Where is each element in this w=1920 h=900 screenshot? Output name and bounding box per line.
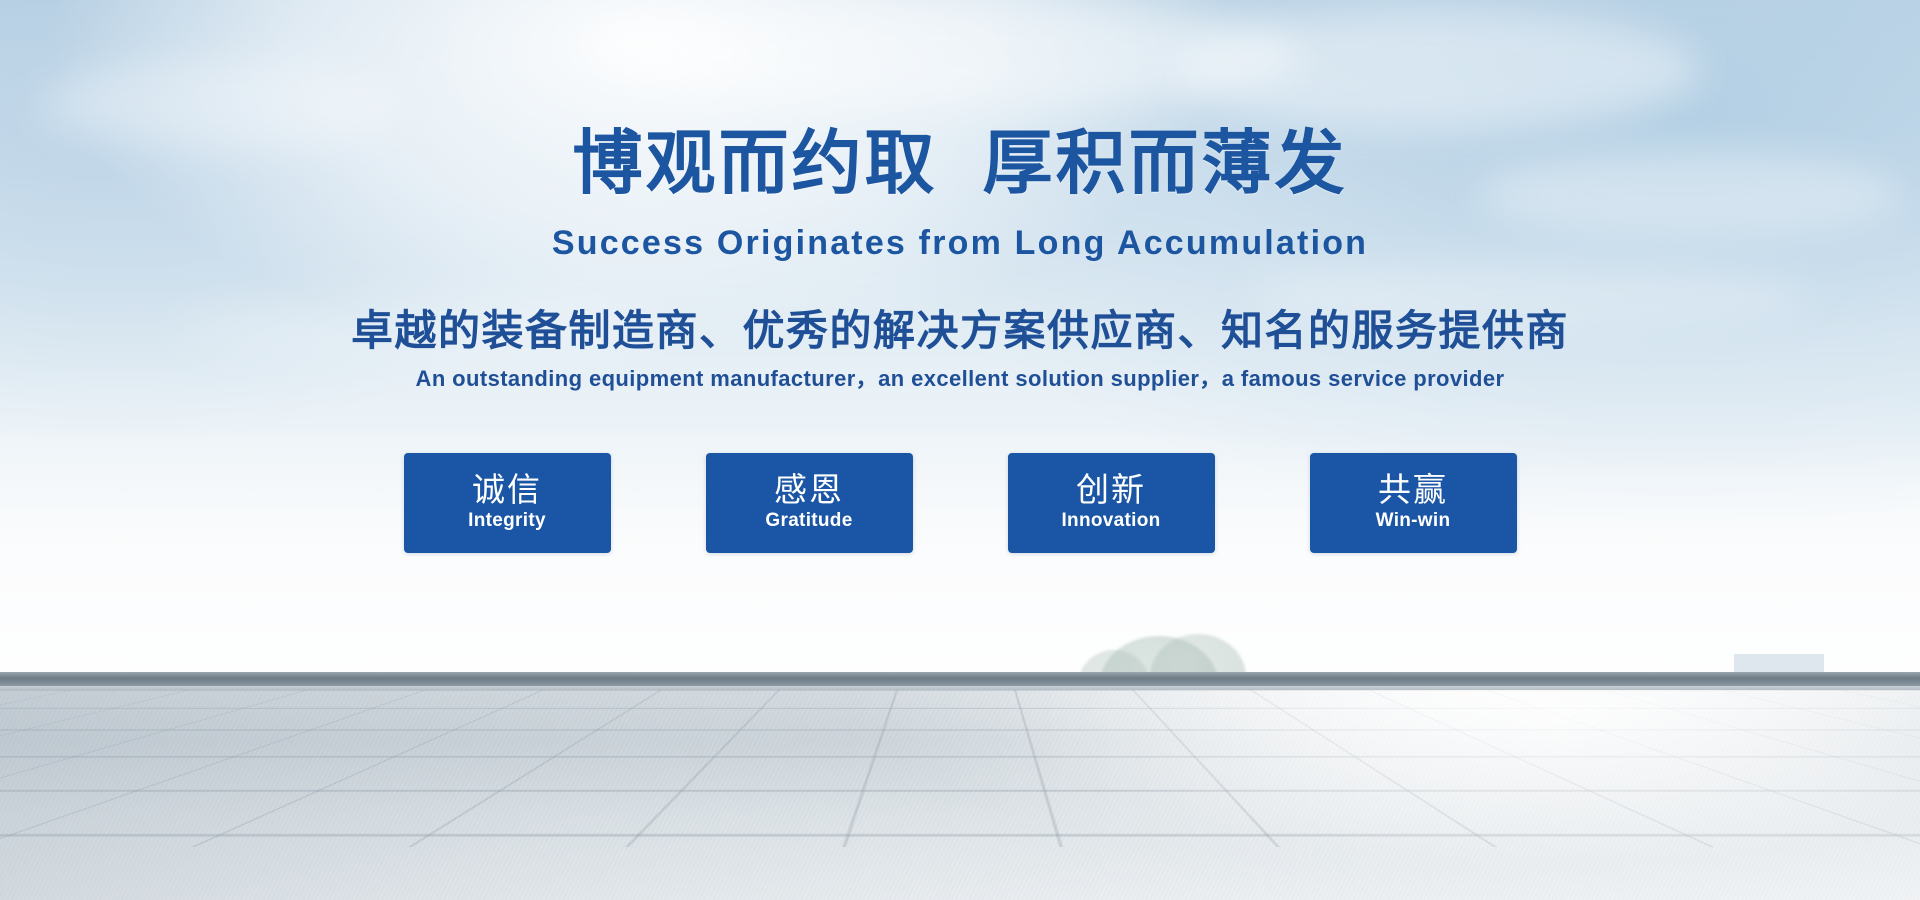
value-box-gratitude[interactable]: 感恩 Gratitude (706, 453, 913, 553)
value-box-winwin[interactable]: 共赢 Win-win (1310, 453, 1517, 553)
headline-english: Success Originates from Long Accumulatio… (0, 226, 1920, 260)
banner-content: 博观而约取 厚积而薄发 Success Originates from Long… (0, 0, 1920, 900)
value-box-label-en: Gratitude (765, 508, 852, 534)
headline-chinese: 博观而约取 厚积而薄发 (0, 128, 1920, 198)
core-values-row: 诚信 Integrity 感恩 Gratitude 创新 Innovation … (0, 453, 1920, 553)
value-box-label-zh: 创新 (1076, 472, 1146, 508)
value-box-label-zh: 诚信 (472, 472, 542, 508)
value-box-label-zh: 感恩 (774, 472, 844, 508)
hero-banner: 博观而约取 厚积而薄发 Success Originates from Long… (0, 0, 1920, 900)
value-box-label-zh: 共赢 (1378, 472, 1448, 508)
value-box-label-en: Innovation (1061, 508, 1160, 534)
value-box-label-en: Integrity (468, 508, 546, 534)
value-box-innovation[interactable]: 创新 Innovation (1008, 453, 1215, 553)
subheadline-chinese: 卓越的装备制造商、优秀的解决方案供应商、知名的服务提供商 (0, 310, 1920, 352)
value-box-integrity[interactable]: 诚信 Integrity (404, 453, 611, 553)
subheadline-english: An outstanding equipment manufacturer，an… (0, 368, 1920, 390)
value-box-label-en: Win-win (1376, 508, 1451, 534)
